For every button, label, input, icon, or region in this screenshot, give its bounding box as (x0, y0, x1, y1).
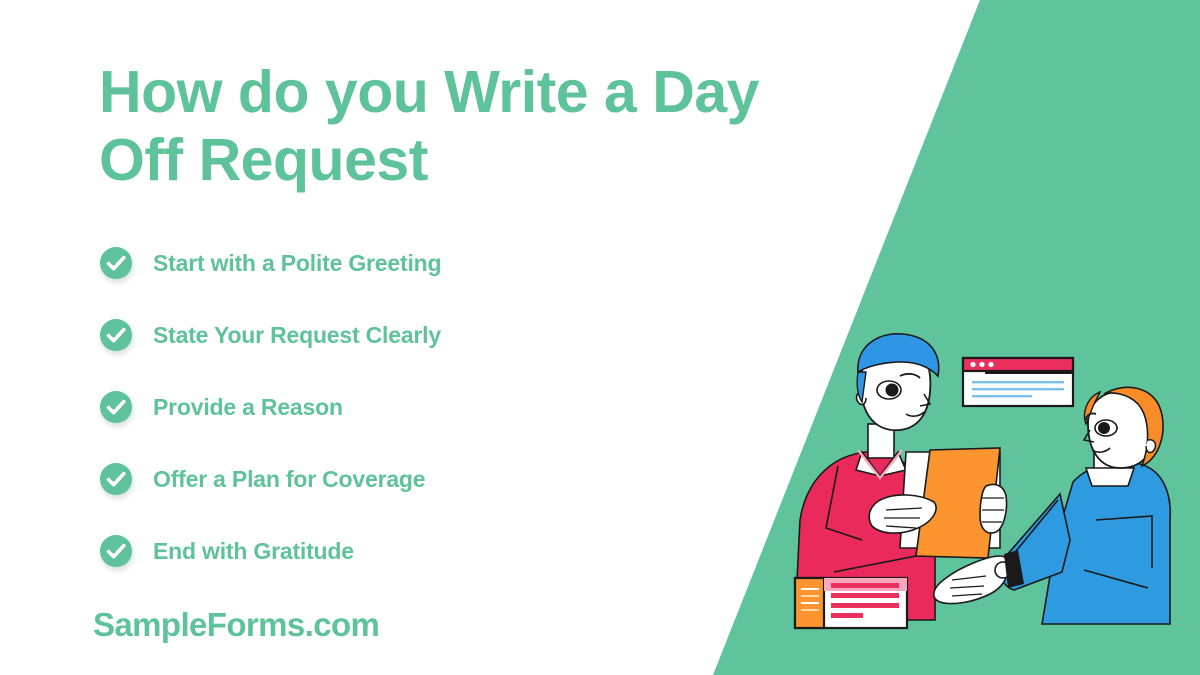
person-right-reaching-hand (934, 387, 1171, 624)
list-item-label: End with Gratitude (153, 538, 354, 565)
list-item: End with Gratitude (99, 515, 799, 587)
list-item-label: Provide a Reason (153, 394, 343, 421)
list-item: Start with a Polite Greeting (99, 227, 799, 299)
brand-wordmark: SampleForms.com (93, 606, 379, 644)
browser-window-card (963, 358, 1073, 406)
list-item: Offer a Plan for Coverage (99, 443, 799, 515)
list-item-label: Start with a Polite Greeting (153, 250, 441, 277)
check-circle-icon (99, 390, 133, 424)
page-title: How do you Write a Day Off Request (99, 58, 799, 194)
checklist: Start with a Polite Greeting State Your … (99, 227, 799, 587)
document-card (795, 578, 907, 628)
person-left-with-folder (795, 334, 1007, 620)
check-circle-icon (99, 246, 133, 280)
list-item: State Your Request Clearly (99, 299, 799, 371)
list-item-label: State Your Request Clearly (153, 322, 441, 349)
list-item-label: Offer a Plan for Coverage (153, 466, 425, 493)
check-circle-icon (99, 318, 133, 352)
check-circle-icon (99, 534, 133, 568)
poster-canvas: How do you Write a Day Off Request Start… (0, 0, 1200, 675)
list-item: Provide a Reason (99, 371, 799, 443)
check-circle-icon (99, 462, 133, 496)
text-content: How do you Write a Day Off Request Start… (99, 58, 799, 587)
